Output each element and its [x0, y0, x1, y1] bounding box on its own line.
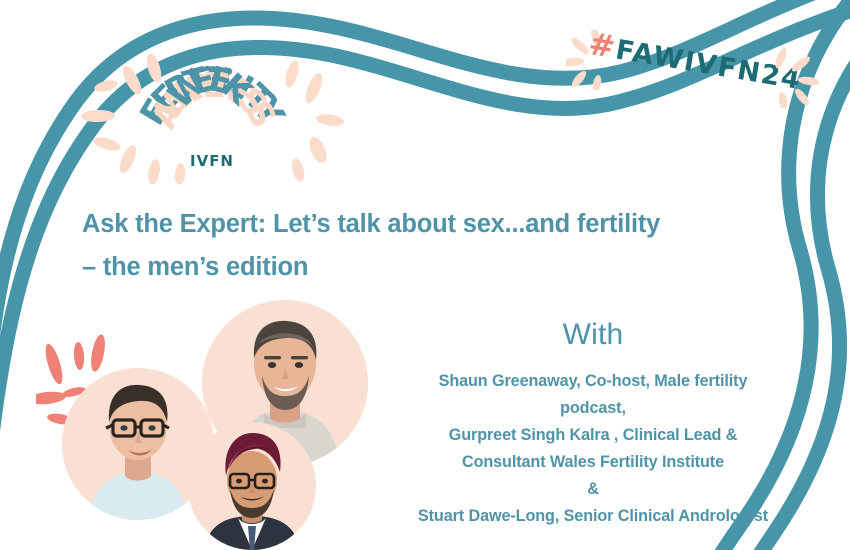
speaker-line: &: [390, 476, 796, 503]
fertility-awareness-week-logo: FERTILITY AWARENESS WEEK IVFN: [62, 24, 362, 184]
with-heading: With: [398, 318, 788, 352]
logo-wordmark: FERTILITY AWARENESS WEEK IVFN: [62, 24, 362, 184]
logo-line-ivfn: IVFN: [62, 152, 362, 170]
headline-line-1: Ask the Expert: Let’s talk about sex...a…: [82, 203, 772, 246]
peach-starburst-icon-right: [757, 48, 819, 108]
poster-canvas: FERTILITY AWARENESS WEEK IVFN #FAWIVFN24…: [0, 0, 850, 550]
speaker-line: Gurpreet Singh Kalra , Clinical Lead &: [390, 422, 796, 449]
headline-line-2: – the men’s edition: [82, 246, 772, 289]
speaker-list: Shaun Greenaway, Co-host, Male fertility…: [390, 368, 796, 530]
speaker-line: Stuart Dawe-Long, Senior Clinical Androl…: [390, 503, 796, 530]
avatar-gurpreet-singh-kalra: [188, 422, 316, 550]
speaker-line: Shaun Greenaway, Co-host, Male fertility: [390, 368, 796, 395]
speaker-line: podcast,: [390, 395, 796, 422]
speaker-line: Consultant Wales Fertility Institute: [390, 449, 796, 476]
page-title: Ask the Expert: Let’s talk about sex...a…: [82, 203, 772, 289]
